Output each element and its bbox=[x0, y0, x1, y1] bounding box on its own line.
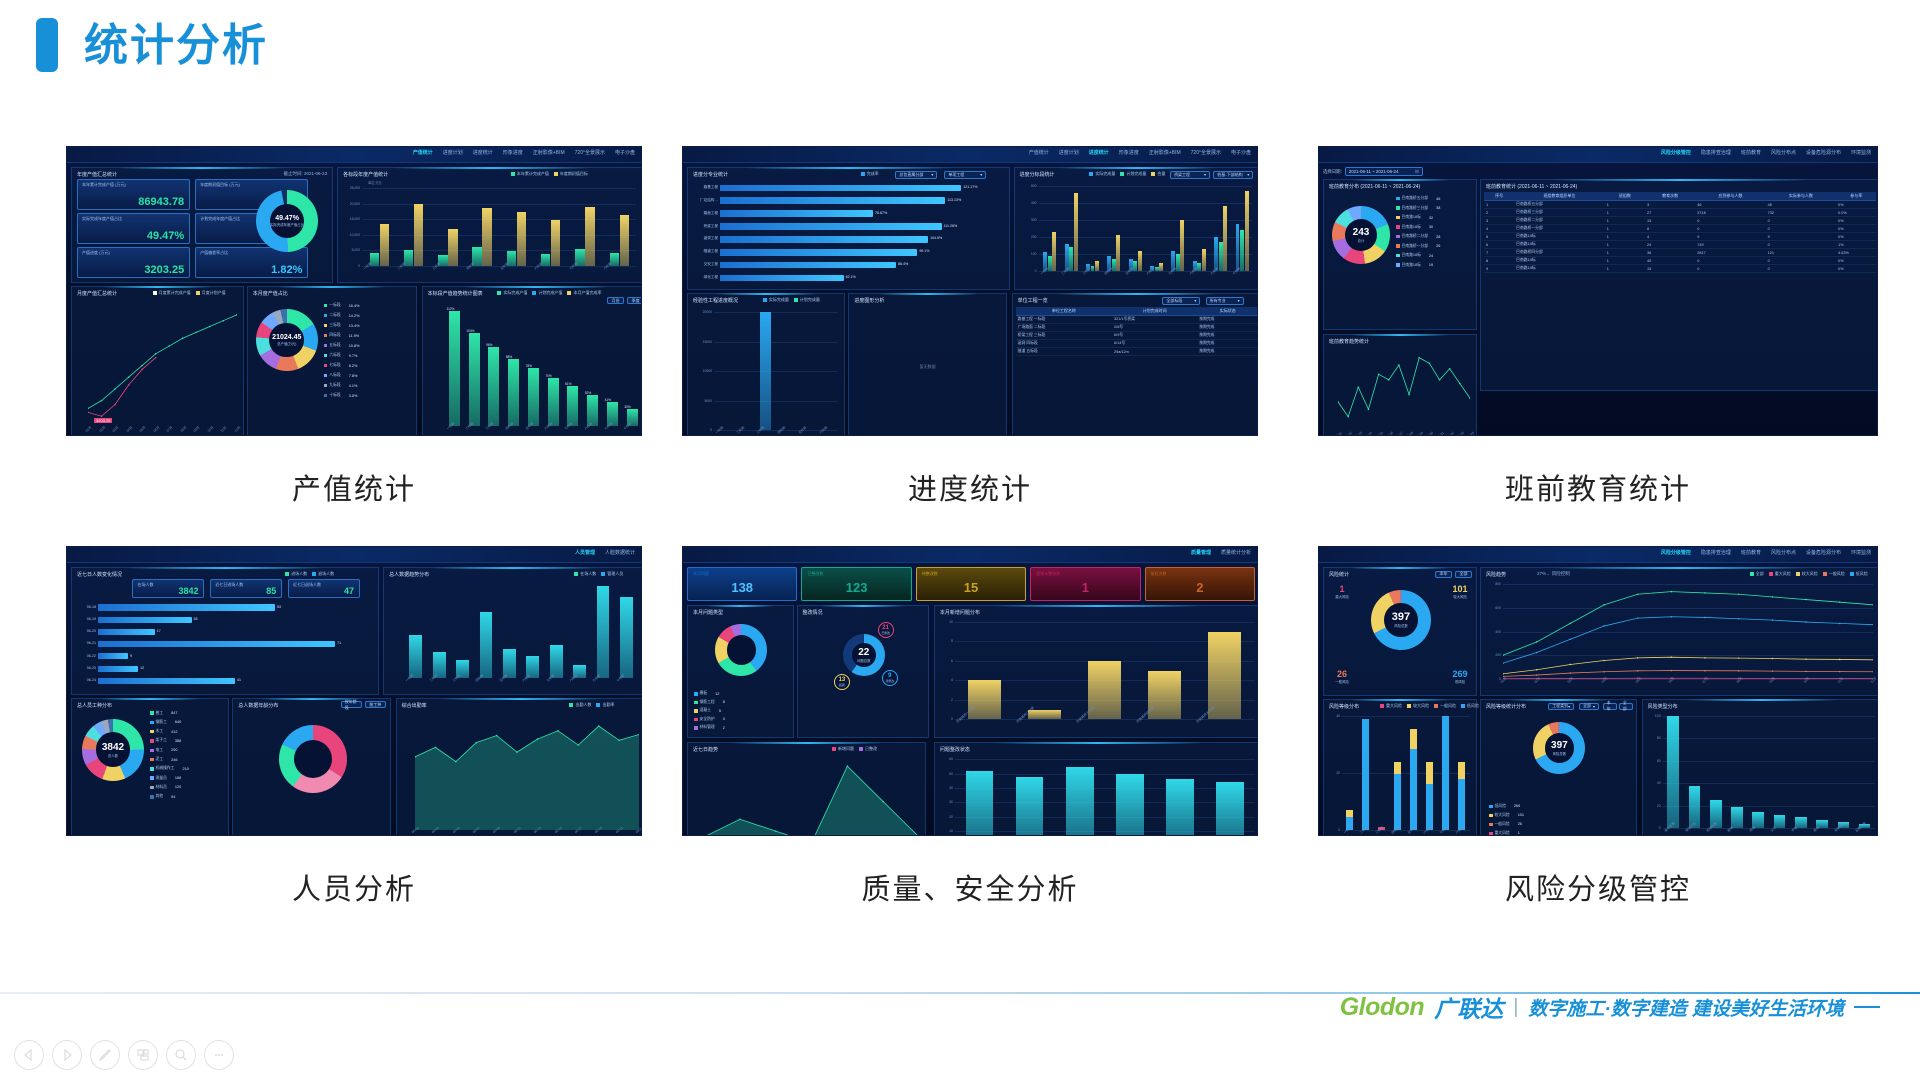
y-axis-tick: 20 bbox=[939, 815, 953, 819]
y-axis-tick: 100 bbox=[1023, 252, 1037, 256]
chevron-down-icon: ▾ bbox=[1593, 704, 1595, 709]
table-col-header: 计划完成时间 bbox=[1112, 307, 1197, 316]
hbar-label: 06-19 bbox=[72, 617, 96, 621]
table-cell: 8 bbox=[1484, 257, 1514, 265]
table-cell: 巴南路桥二分部 bbox=[1514, 217, 1605, 225]
table-row: 隧道 五标段29a/12m按期完成 bbox=[1016, 348, 1258, 356]
panel-progress-by-section: 进度分标段统计实际完成量计划完成量合量桥梁工程▾桩基-下部结构▾50040030… bbox=[1014, 167, 1258, 290]
legend-value: 101 bbox=[1512, 813, 1524, 817]
table-cell: 1 bbox=[1605, 233, 1645, 241]
hbar-value: 88.4% bbox=[898, 262, 908, 266]
legend-swatch bbox=[324, 334, 328, 338]
pen-icon[interactable] bbox=[90, 1040, 120, 1070]
panel-7day-trend: 近七日趋势新增问题已整改06-1806-1906-2006-2106-2206-… bbox=[687, 742, 926, 836]
empty-state-text: 暂无数据 bbox=[849, 364, 1005, 370]
bar bbox=[1028, 710, 1061, 720]
legend-label: 泥工 bbox=[156, 757, 164, 762]
panel-title: 各标段年度产值统计 bbox=[343, 171, 388, 178]
legend-swatch bbox=[1489, 823, 1493, 827]
legend-value: 24 bbox=[1423, 254, 1433, 258]
panel-title: 本月度产值占比 bbox=[253, 290, 288, 297]
legend-swatch bbox=[832, 747, 836, 751]
legend-value: 14.2% bbox=[343, 314, 360, 318]
date-filter-bar: 选择日期:2021-06-11 ~ 2021-06-24☷ bbox=[1323, 166, 1423, 177]
button-全部[interactable]: 全部 bbox=[1619, 703, 1633, 710]
table-row: 路基工程 一标段321/1号桥梁按期完成 bbox=[1016, 316, 1258, 324]
legend-label: 巴南路18标 bbox=[1402, 215, 1421, 220]
table-col-header: 参与率 bbox=[1836, 192, 1876, 201]
chart-unit-label: 单位:万元 bbox=[368, 180, 382, 185]
select-全部标段[interactable]: 全部标段▾ bbox=[1162, 297, 1200, 305]
chart-legend: 全部重大风险较大风险一般风险低风险 bbox=[1750, 571, 1868, 577]
x-axis-tick: 二标段 bbox=[1358, 820, 1373, 834]
tab-2[interactable]: 进度计划 bbox=[1059, 149, 1079, 156]
panel-title: 风险统计 bbox=[1329, 571, 1349, 578]
hbar bbox=[720, 262, 896, 268]
panel-title: 近七日人数变化情况 bbox=[77, 571, 122, 578]
select-桩基-下部结构[interactable]: 桩基-下部结构▾ bbox=[1213, 171, 1253, 179]
legend-value: 120 bbox=[169, 785, 181, 789]
select-label: 总包直属分部 bbox=[899, 172, 923, 178]
tab-6[interactable]: 环境监测 bbox=[1851, 549, 1871, 556]
table-cell: 1 bbox=[1484, 201, 1514, 209]
gridline bbox=[955, 622, 1255, 623]
tab-6[interactable]: 环境监测 bbox=[1851, 149, 1871, 156]
select-单项工程[interactable]: 单项工程▾ bbox=[944, 171, 986, 179]
tab-4[interactable]: 形象进度 bbox=[1119, 149, 1139, 156]
kpi-tile-3[interactable]: 待整改数15 bbox=[916, 567, 1026, 601]
dashboard-thumbnail[interactable]: 风险分级管控隐患排查治理班前教育风险分布点设备危险源分布环境监测风险统计本年全部… bbox=[1318, 546, 1878, 836]
table-head-row: 序号班组教育组织单位班组数教育次数应到参与人数实际参与人数参与率 bbox=[1484, 192, 1876, 201]
chart-legend: 月度累计完成产值月度计划产值 bbox=[153, 290, 226, 296]
legend-list-item: 巴南路桥一分部26 bbox=[1396, 244, 1440, 249]
panel-title: 月度产值汇总统计 bbox=[77, 290, 117, 297]
chevron-down-icon: ▾ bbox=[1194, 298, 1196, 303]
dashboard-tabs[interactable]: 风险分级管控隐患排查治理班前教育风险分布点设备危险源分布环境监测 bbox=[1661, 149, 1871, 156]
bar-value-label: 52% bbox=[585, 391, 591, 395]
table-cell: 巴南路桥五分部 bbox=[1514, 201, 1605, 209]
legend-swatch bbox=[596, 703, 600, 707]
legend-list-item: 二标段14.2% bbox=[324, 313, 360, 318]
legend-swatch bbox=[569, 703, 573, 707]
table-cell: 321/1号桥梁 bbox=[1112, 316, 1197, 324]
tab-5[interactable]: 正射影像+BIM bbox=[533, 149, 565, 156]
hbar-label: 路面工程 bbox=[694, 211, 718, 216]
table-row: 6巴南路18标12474901% bbox=[1484, 241, 1876, 249]
legend-list-item: 其他94 bbox=[150, 794, 175, 799]
bar-segment bbox=[1442, 716, 1449, 830]
legend-swatch bbox=[1396, 244, 1400, 248]
tab-5[interactable]: 正射影像+BIM bbox=[1149, 149, 1181, 156]
tab-2[interactable]: 进度计划 bbox=[443, 149, 463, 156]
dashboard-tabs[interactable]: 产值统计进度计划进度统计形象进度正射影像+BIM720°全景展示电子沙盘 bbox=[1029, 149, 1251, 156]
donut-center-caption: 总人数 bbox=[108, 753, 118, 758]
legend-item: 计划完成量 bbox=[1120, 171, 1146, 177]
table-cell: 15 bbox=[1645, 265, 1695, 273]
hbar-label: 06-24 bbox=[72, 678, 96, 682]
panel-personnel-by-age: 总人数据年龄分布按年龄段按工种25-35岁工人36-45岁46-55岁55岁以上 bbox=[232, 698, 390, 836]
tab-1[interactable]: 产值统计 bbox=[413, 149, 433, 156]
bar-segment bbox=[1346, 810, 1353, 818]
dashboard-thumbnail[interactable]: 质量管理质量统计分析本月问题138已整改数123待整改数15超期未整改数1复检次… bbox=[682, 546, 1258, 836]
y-axis-tick: 400 bbox=[1023, 201, 1037, 205]
kpi-tile-2[interactable]: 已整改数123 bbox=[801, 567, 911, 601]
line-series bbox=[88, 305, 237, 428]
table-col-header: 班组教育组织单位 bbox=[1514, 192, 1605, 201]
table-cell: 46 bbox=[1695, 201, 1765, 209]
hbar-value: 76.87% bbox=[875, 211, 887, 215]
legend-swatch bbox=[1380, 704, 1384, 708]
table-cell: 0 bbox=[1695, 225, 1765, 233]
hbar-label: 桥梁工程 bbox=[694, 224, 718, 229]
select-全部[interactable]: 全部▾ bbox=[1579, 703, 1599, 710]
panel-monthly-output: 月度产值汇总统计月度累计完成产值月度计划产值01月02月03月04月05月06月… bbox=[71, 286, 244, 436]
x-axis-tick: 五标段 bbox=[797, 417, 816, 435]
y-axis-tick: 60 bbox=[939, 757, 953, 761]
bar bbox=[551, 220, 560, 266]
table-col-header: 班组数 bbox=[1605, 192, 1645, 201]
panel-title: 本月问题类型 bbox=[693, 609, 723, 616]
button-本年[interactable]: 本年 bbox=[1603, 703, 1617, 710]
tab-6[interactable]: 720°全景展示 bbox=[575, 149, 605, 156]
metric-bubble-2: 9待整改 bbox=[882, 670, 898, 686]
legend-label: 钢筋工程 bbox=[700, 700, 715, 705]
search-icon[interactable] bbox=[166, 1040, 196, 1070]
donut-center-value: 3842 bbox=[102, 742, 124, 753]
line-series bbox=[1503, 584, 1873, 679]
legend-swatch bbox=[150, 711, 154, 715]
risk-corner-value: 101 bbox=[1448, 584, 1472, 594]
select-所有专业[interactable]: 所有专业▾ bbox=[1206, 297, 1244, 305]
grid-icon[interactable] bbox=[128, 1040, 158, 1070]
kpi-tile-4[interactable]: 超期未整改数1 bbox=[1030, 567, 1140, 601]
y-axis-tick: 0 bbox=[1023, 269, 1037, 273]
panel-issue-rectification-state: 问题整改状态6050403020100巴南路桥一分…巴南路桥二分…巴南路桥三分…… bbox=[934, 742, 1258, 836]
panel-title: 问题整改状态 bbox=[940, 746, 970, 753]
dashboard-caption-1: 产值统计 bbox=[66, 466, 642, 508]
bubble-label: 超期 bbox=[839, 683, 845, 687]
dashboard-surface: 产值统计进度计划进度统计形象进度正射影像+BIM720°全景展示电子沙盘进度分专… bbox=[683, 147, 1257, 435]
table-cell: 732 bbox=[1766, 209, 1836, 217]
bar-value-label: 96% bbox=[486, 343, 492, 347]
table-head: 序号班组教育组织单位班组数教育次数应到参与人数实际参与人数参与率 bbox=[1484, 192, 1876, 201]
gridline bbox=[362, 219, 636, 220]
button-季度[interactable]: 季度 bbox=[627, 297, 642, 304]
kpi-card-1: 在场人数3842 bbox=[132, 579, 204, 598]
dashboard-thumbnail[interactable]: 风险分级管控隐患排查治理班前教育风险分布点设备危险源分布环境监测选择日期:202… bbox=[1318, 146, 1878, 436]
table-cell: 2817 bbox=[1695, 249, 1765, 257]
hbar bbox=[720, 197, 945, 203]
calendar-icon: ☷ bbox=[1415, 169, 1419, 175]
kpi-tile-value: 123 bbox=[846, 580, 868, 595]
hbar-label: 绿化工程 bbox=[694, 275, 718, 280]
hbar-label: 06-18 bbox=[72, 605, 96, 609]
risk-trend-note: 27% 、风险控制 bbox=[1537, 571, 1570, 577]
tab-3[interactable]: 班前教育 bbox=[1741, 549, 1761, 556]
tab-3[interactable]: 进度统计 bbox=[473, 149, 493, 156]
dashboard-tabs[interactable]: 产值统计进度计划进度统计形象进度正射影像+BIM720°全景展示电子沙盘 bbox=[413, 149, 635, 156]
legend-item: 本月产值完成率 bbox=[567, 290, 601, 296]
legend-value: 8 bbox=[717, 700, 725, 704]
table-cell: 1 bbox=[1605, 241, 1645, 249]
legend-swatch bbox=[1396, 206, 1400, 210]
hbar bbox=[98, 604, 275, 610]
table-cell: 0 bbox=[1695, 217, 1765, 225]
legend-swatch bbox=[1396, 225, 1400, 229]
hbar-value: 104.5% bbox=[930, 236, 942, 240]
gridline bbox=[1039, 203, 1253, 204]
x-axis-tick: 四标段 bbox=[1390, 820, 1405, 834]
dashboard-tabs[interactable]: 风险分级管控隐患排查治理班前教育风险分布点设备危险源分布环境监测 bbox=[1661, 549, 1871, 556]
tab-6[interactable]: 720°全景展示 bbox=[1191, 149, 1221, 156]
dashboard-tabs[interactable]: 人员管理人脸数据统计 bbox=[575, 549, 635, 556]
panel-month-output-share: 本月度产值占比21024.45总产值(万元)一标段16.4%二标段14.2%三标… bbox=[247, 286, 417, 436]
tab-2[interactable]: 质量统计分析 bbox=[1221, 549, 1251, 556]
bar-segment bbox=[1410, 749, 1417, 830]
select-工程类别[interactable]: 工程类别▾ bbox=[1548, 703, 1574, 710]
table-cell: 6/14号 bbox=[1112, 340, 1197, 348]
legend-value: 3 bbox=[717, 717, 725, 721]
data-table: 单位工程名称计划完成时间实际状态路基工程 一标段321/1号桥梁按期完成广场路面… bbox=[1016, 307, 1258, 356]
legend-value: 640 bbox=[169, 720, 181, 724]
risk-corner-1: 1重大风险 bbox=[1330, 584, 1354, 599]
legend-label: 五标段 bbox=[329, 343, 340, 348]
legend-label: 十标段 bbox=[329, 393, 340, 398]
panel-title: 进度图形分析 bbox=[854, 297, 884, 304]
legend-swatch bbox=[324, 314, 328, 318]
y-axis-tick: 20000 bbox=[698, 310, 712, 314]
tab-5[interactable]: 设备危险源分布 bbox=[1806, 149, 1841, 156]
table-cell: 0 bbox=[1766, 241, 1836, 249]
tab-1[interactable]: 风险分级管控 bbox=[1661, 549, 1691, 556]
more-icon[interactable] bbox=[204, 1040, 234, 1070]
bar-value-label: 88% bbox=[506, 355, 512, 359]
select-label: 桩基-下部结构 bbox=[1217, 172, 1242, 178]
x-axis-tick: 三标段 bbox=[1374, 820, 1389, 834]
kpi-label: 本年累计完成产值 (万元) bbox=[82, 182, 126, 188]
bar bbox=[760, 312, 771, 430]
tab-2[interactable]: 人脸数据统计 bbox=[605, 549, 635, 556]
panel-risk-type-distribution: 风险类型分布100806040200高处坠落物体打击机械伤害触电坍塌火灾中毒其他… bbox=[1642, 699, 1878, 836]
legend-item: 出勤人数 bbox=[569, 702, 591, 708]
legend-swatch bbox=[1396, 235, 1400, 239]
legend-swatch bbox=[1850, 572, 1854, 576]
chevron-down-icon: ▾ bbox=[1247, 172, 1249, 177]
bottom-toolbar[interactable] bbox=[14, 1040, 234, 1070]
table-cell: 2/8号 bbox=[1112, 324, 1197, 332]
y-axis-tick: 30 bbox=[939, 800, 953, 804]
panel-meta: 截止时间: 2021-06-23 bbox=[284, 171, 328, 177]
tab-3[interactable]: 进度统计 bbox=[1089, 149, 1109, 156]
select-总包直属分部[interactable]: 总包直属分部▾ bbox=[895, 171, 937, 179]
dashboard-topbar: 人员管理人脸数据统计 bbox=[67, 547, 641, 563]
table-cell: 2 bbox=[1484, 209, 1514, 217]
tab-4[interactable]: 风险分布点 bbox=[1771, 549, 1796, 556]
tab-2[interactable]: 隐患排查治理 bbox=[1701, 149, 1731, 156]
legend-list-item: 一般风险26 bbox=[1489, 822, 1522, 827]
panel-total-personnel-trend: 总人数据趋势分布在场人数管理人员一标段二标段三标段四标段五标段六标段七标段八标段… bbox=[383, 567, 642, 695]
date-range-value: 2021-06-11 ~ 2021-06-24 bbox=[1349, 169, 1399, 174]
tab-1[interactable]: 产值统计 bbox=[1029, 149, 1049, 156]
tab-7[interactable]: 电子沙盘 bbox=[1231, 149, 1251, 156]
legend-swatch bbox=[1120, 172, 1124, 176]
hbar-label: 06-23 bbox=[72, 666, 96, 670]
legend-label: 七标段 bbox=[329, 363, 340, 368]
table-cell: 3 bbox=[1645, 201, 1695, 209]
legend-swatch bbox=[324, 344, 328, 348]
kpi-card-3: 近七日退场人数47 bbox=[288, 579, 360, 598]
legend-value: 28 bbox=[1430, 235, 1440, 239]
legend-label: 材料管理 bbox=[700, 725, 715, 730]
next-icon[interactable] bbox=[52, 1040, 82, 1070]
legend-list-item: 七标段8.2% bbox=[324, 363, 358, 368]
table-cell: 3 bbox=[1484, 217, 1514, 225]
panel-title: 班前教育分布 (2021-06-11 ~ 2021-06-24) bbox=[1329, 183, 1420, 190]
legend-value: 10.8% bbox=[343, 344, 360, 348]
x-axis-tick: 八标段 bbox=[1454, 820, 1469, 834]
legend-list-item: 四标段11.9% bbox=[324, 333, 359, 338]
hbar-value: 41 bbox=[237, 678, 241, 682]
dashboard-tabs[interactable]: 质量管理质量统计分析 bbox=[1191, 549, 1251, 556]
kpi-tile-value: 15 bbox=[964, 580, 978, 595]
legend-swatch bbox=[150, 730, 154, 734]
data-table: 序号班组教育组织单位班组数教育次数应到参与人数实际参与人数参与率1巴南路桥五分部… bbox=[1484, 192, 1876, 273]
table-row: 9巴南路18标115000% bbox=[1484, 265, 1876, 273]
legend-swatch bbox=[312, 572, 316, 576]
legend-list-item: 十标段3.5% bbox=[324, 393, 358, 398]
tab-5[interactable]: 设备危险源分布 bbox=[1806, 549, 1841, 556]
kpi-tile-label: 复检次数 bbox=[1151, 571, 1167, 577]
select-桥梁工程[interactable]: 桥梁工程▾ bbox=[1170, 171, 1210, 179]
x-axis-tick: 一标段 bbox=[1342, 820, 1357, 834]
legend-swatch bbox=[1489, 832, 1493, 836]
table-cell: 1 bbox=[1605, 217, 1645, 225]
button-全部[interactable]: 全部 bbox=[1455, 571, 1472, 578]
kpi-tile-1[interactable]: 本月问题138 bbox=[687, 567, 797, 601]
kpi-value: 1.82% bbox=[271, 264, 302, 276]
button-按年龄段[interactable]: 按年龄段 bbox=[341, 701, 362, 708]
brand-separator: | bbox=[1513, 996, 1518, 1019]
legend-value: 269 bbox=[1508, 804, 1520, 808]
legend-label: 测量员 bbox=[156, 776, 167, 781]
y-axis-tick: 8 bbox=[939, 639, 953, 643]
legend-swatch bbox=[150, 739, 154, 743]
tab-1[interactable]: 风险分级管控 bbox=[1661, 149, 1691, 156]
tab-1[interactable]: 人员管理 bbox=[575, 549, 595, 556]
legend-item: 实际完成量 bbox=[763, 297, 789, 303]
donut-center-value: 49.47% bbox=[275, 215, 299, 222]
chevron-down-icon: ▾ bbox=[1568, 704, 1570, 709]
bar-segment bbox=[1410, 729, 1417, 749]
table-body: 路基工程 一标段321/1号桥梁按期完成广场路面 二标段2/8号按期完成桥梁工程… bbox=[1016, 316, 1258, 356]
select-label: 单项工程 bbox=[948, 172, 964, 178]
table-cell: 0% bbox=[1836, 217, 1876, 225]
legend-list-item: 测量员168 bbox=[150, 776, 181, 781]
table-col-header: 实际状态 bbox=[1197, 307, 1258, 316]
button-月份[interactable]: 月份 bbox=[607, 297, 624, 304]
x-axis-tick: 二标段 bbox=[735, 417, 754, 435]
kpi-tile-value: 138 bbox=[731, 580, 753, 595]
brand-slogan: 数字施工·数字建造 建设美好生活环境 bbox=[1528, 994, 1844, 1021]
panel-personnel-7day-change: 近七日人数变化情况进场人数退场人数在场人数3842近七日进场人数85近七日退场人… bbox=[71, 567, 379, 695]
tab-4[interactable]: 风险分布点 bbox=[1771, 149, 1796, 156]
legend-value: 26 bbox=[1512, 822, 1522, 826]
table-cell: 涵洞 四标段 bbox=[1016, 340, 1112, 348]
dashboard-thumbnail[interactable]: 人员管理人脸数据统计近七日人数变化情况进场人数退场人数在场人数3842近七日进场… bbox=[66, 546, 642, 836]
tab-7[interactable]: 电子沙盘 bbox=[615, 149, 635, 156]
dashboard-surface: 人员管理人脸数据统计近七日人数变化情况进场人数退场人数在场人数3842近七日进场… bbox=[67, 547, 641, 835]
select-label: 全部 bbox=[1583, 703, 1591, 709]
table-cell: 1 bbox=[1605, 249, 1645, 257]
table-cell: 按期完成 bbox=[1197, 316, 1258, 324]
gridline bbox=[1663, 783, 1876, 784]
dashboard-cell-1: 产值统计进度计划进度统计形象进度正射影像+BIM720°全景展示电子沙盘年度产值… bbox=[66, 146, 642, 436]
kpi-label: 产值进度 (万元) bbox=[82, 250, 110, 256]
tab-3[interactable]: 班前教育 bbox=[1741, 149, 1761, 156]
tab-2[interactable]: 隐患排查治理 bbox=[1701, 549, 1731, 556]
date-range-picker[interactable]: 2021-06-11 ~ 2021-06-24☷ bbox=[1345, 167, 1423, 176]
legend-label: 四标段 bbox=[329, 333, 340, 338]
kpi-tile-5[interactable]: 复检次数2 bbox=[1145, 567, 1255, 601]
donut-center-caption: 总产值(万元) bbox=[277, 341, 296, 346]
button-按工种[interactable]: 按工种 bbox=[365, 701, 386, 708]
legend-label: 混凝土 bbox=[700, 708, 711, 713]
bar bbox=[482, 208, 491, 266]
tab-1[interactable]: 质量管理 bbox=[1191, 549, 1211, 556]
legend-swatch bbox=[150, 749, 154, 753]
y-axis-tick: 6 bbox=[939, 659, 953, 663]
panel-title: 年度产值汇总统计 bbox=[77, 171, 117, 178]
tab-4[interactable]: 形象进度 bbox=[503, 149, 523, 156]
table-cell: 121 bbox=[1766, 249, 1836, 257]
y-axis-tick: 200 bbox=[1489, 653, 1501, 657]
dashboard-thumbnail[interactable]: 产值统计进度计划进度统计形象进度正射影像+BIM720°全景展示电子沙盘年度产值… bbox=[66, 146, 642, 436]
dashboard-cell-5: 质量管理质量统计分析本月问题138已整改数123待整改数15超期未整改数1复检次… bbox=[682, 546, 1258, 836]
donut-wrap: 397风险总数 bbox=[1371, 590, 1431, 650]
hbar bbox=[98, 666, 138, 672]
table-cell: 广场路面 二标段 bbox=[1016, 324, 1112, 332]
hbar bbox=[720, 185, 961, 191]
legend-label: 巴南路桥一分部 bbox=[1402, 244, 1429, 249]
legend-swatch bbox=[1396, 197, 1400, 201]
y-axis-tick: 100 bbox=[1647, 714, 1661, 718]
legend-list-item: 一标段16.4% bbox=[324, 303, 360, 308]
button-本年[interactable]: 本年 bbox=[1435, 571, 1452, 578]
gridline bbox=[955, 774, 1255, 775]
dashboard-thumbnail[interactable]: 产值统计进度计划进度统计形象进度正射影像+BIM720°全景展示电子沙盘进度分专… bbox=[682, 146, 1258, 436]
kpi-value: 85 bbox=[266, 586, 276, 596]
dashboard-topbar: 产值统计进度计划进度统计形象进度正射影像+BIM720°全景展示电子沙盘 bbox=[67, 147, 641, 163]
legend-list-item: 安全防护3 bbox=[694, 717, 725, 722]
table-cell: 13 bbox=[1645, 217, 1695, 225]
donut-center-value: 397 bbox=[1392, 611, 1410, 623]
bar-value-label: 61% bbox=[565, 382, 571, 386]
legend-swatch bbox=[859, 747, 863, 751]
table-cell: 3718 bbox=[1695, 209, 1765, 217]
gridline bbox=[1342, 773, 1470, 774]
chevron-down-icon: ▾ bbox=[980, 172, 982, 177]
legend-swatch bbox=[694, 726, 698, 730]
bar bbox=[620, 215, 629, 266]
legend-value: 19 bbox=[1423, 263, 1433, 267]
table-cell: 9 bbox=[1695, 233, 1765, 241]
hbar-value: 28 bbox=[194, 617, 198, 621]
table-cell: 巴南路桥三分部 bbox=[1514, 209, 1605, 217]
prev-icon[interactable] bbox=[14, 1040, 44, 1070]
table-body: 1巴南路桥五分部1346460%2巴南路桥三分部12737187320.0%3巴… bbox=[1484, 201, 1876, 273]
bar bbox=[449, 311, 460, 426]
legend-list-item: 钢筋工640 bbox=[150, 720, 181, 725]
